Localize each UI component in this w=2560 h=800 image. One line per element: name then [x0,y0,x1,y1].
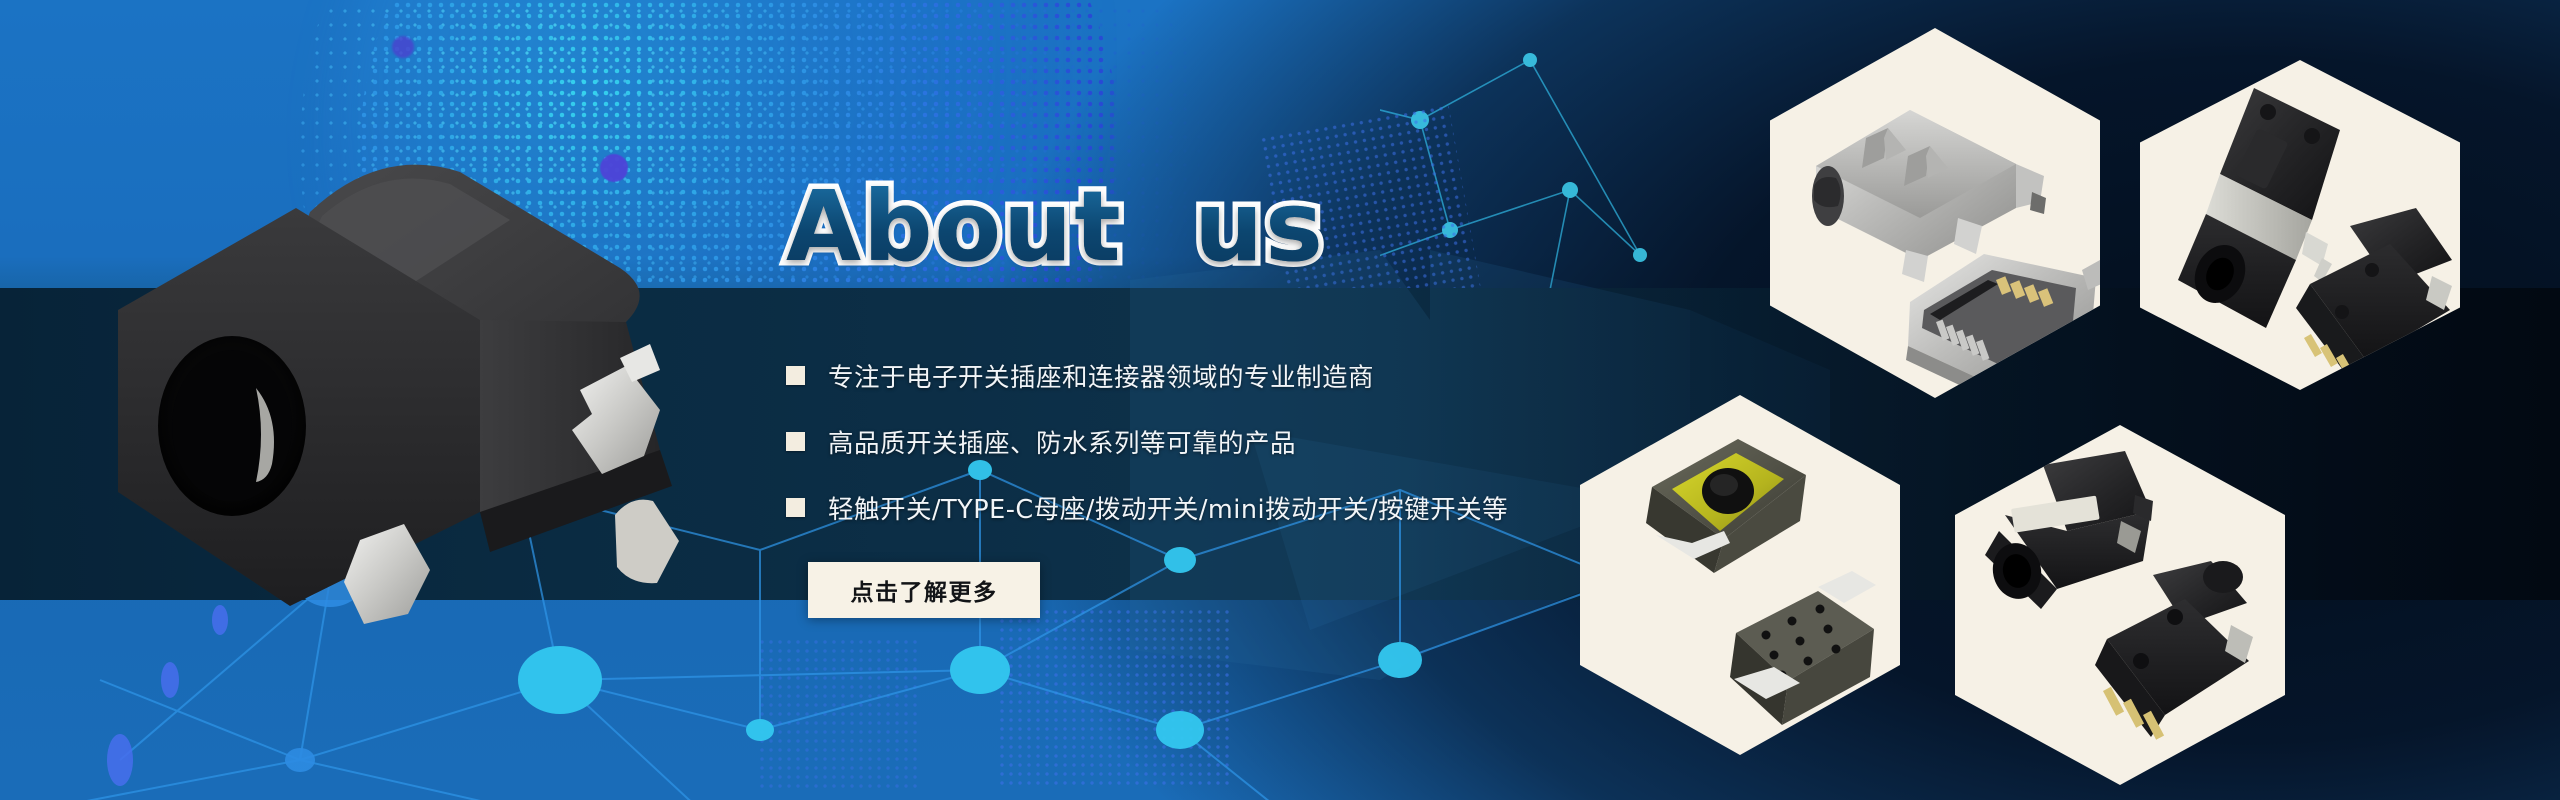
purple-accent-dot-small [392,36,414,58]
list-item-label: 轻触开关/TYPE-C母座/拨动开关/mini拨动开关/按键开关等 [828,489,1508,526]
page-title-fill: About us [786,178,1325,275]
product-image-dc-power-jack: 黑色DC电源插座 [60,120,740,640]
about-us-banner: 黑色DC电源插座 [0,0,2560,800]
list-item-label: 高品质开关插座、防水系列等可靠的产品 [828,423,1296,460]
square-bullet-icon [786,366,805,385]
list-item: 专注于电子开关插座和连接器领域的专业制造商 [786,342,1846,408]
square-bullet-icon [786,432,805,451]
learn-more-button-label: 点击了解更多 [851,573,998,607]
square-bullet-icon [786,498,805,517]
learn-more-button[interactable]: 点击了解更多 [808,562,1040,618]
list-item-label: 专注于电子开关插座和连接器领域的专业制造商 [828,357,1374,394]
page-title: About us About us [786,178,1325,275]
